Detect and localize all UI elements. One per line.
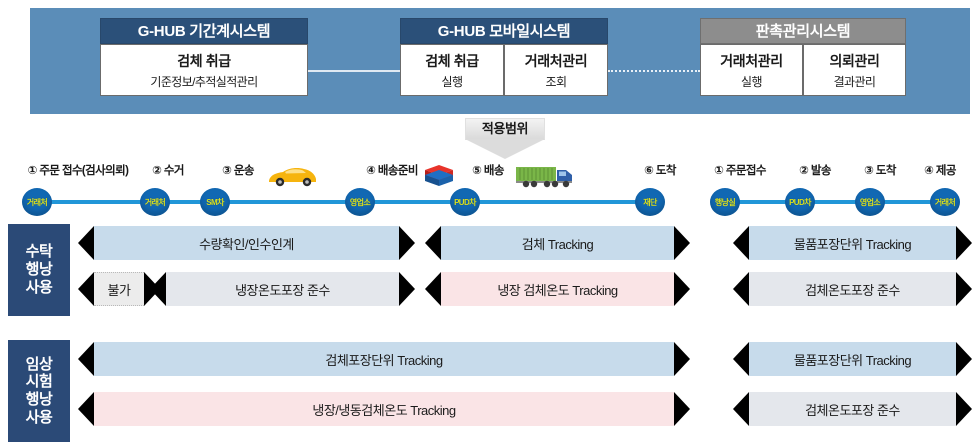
system-cell-line1: 검체 취급: [177, 51, 230, 71]
band-arrow-head-right: [674, 342, 690, 376]
flow-node-label: 행낭실: [715, 197, 735, 208]
process-band: 불가: [78, 272, 160, 306]
connector-dotted-line: [608, 70, 700, 72]
process-band: 검체온도포장 준수: [733, 392, 972, 426]
band-arrow-head-left: [150, 272, 166, 306]
system-cell: 의뢰관리 결과관리: [803, 44, 906, 96]
row-label-line: 사용: [26, 279, 53, 297]
band-arrow-head-left: [733, 392, 749, 426]
flow-node-label: 거래처: [935, 197, 955, 208]
band-arrow-head-right: [956, 272, 972, 306]
band-arrow-head-left: [733, 342, 749, 376]
band-label: 냉장/냉동검체온도 Tracking: [312, 400, 455, 419]
flow-line-segment: [37, 200, 650, 204]
band-label: 검체온도포장 준수: [805, 280, 900, 299]
band-arrow-head-left: [78, 272, 94, 306]
flow-node[interactable]: 영업소: [855, 188, 885, 216]
band-arrow-head-right: [674, 272, 690, 306]
band-arrow-head-left: [78, 342, 94, 376]
system-cell: 검체 취급 실행: [400, 44, 504, 96]
process-band: 검체포장단위 Tracking: [78, 342, 690, 376]
process-band: 물품포장단위 Tracking: [733, 342, 972, 376]
row-label-line: 행낭: [26, 391, 53, 409]
process-band: 냉장 검체온도 Tracking: [425, 272, 690, 306]
band-arrow-head-left: [425, 272, 441, 306]
flow-node[interactable]: SM차: [200, 188, 230, 216]
process-band: 수량확인/인수인계: [78, 226, 415, 260]
band-arrow-head-right: [956, 226, 972, 260]
scope-arrow-label: 적용범위: [440, 118, 570, 140]
band-arrow-head-right: [399, 226, 415, 260]
band-label: 수량확인/인수인계: [199, 234, 294, 253]
band-label: 검체포장단위 Tracking: [325, 350, 442, 369]
scope-arrow-head: [465, 139, 545, 159]
flow-step-label: ③ 운송: [222, 162, 254, 178]
flow-step-label: ③ 도착: [864, 162, 896, 178]
system-cell-line2: 실행: [442, 73, 463, 90]
flow-line-segment: [725, 200, 945, 204]
band-arrow-head-left: [78, 226, 94, 260]
flow-node[interactable]: 거래처: [22, 188, 52, 216]
band-arrow-head-right: [956, 392, 972, 426]
band-label: 냉장온도포장 준수: [235, 280, 330, 299]
system-box-title: G-HUB 기간계시스템: [100, 18, 308, 44]
system-cell-line2: 기준정보/추적실적관리: [150, 73, 257, 90]
flow-node-label: PUD차: [454, 197, 476, 208]
process-band: 냉장/냉동검체온도 Tracking: [78, 392, 690, 426]
row-label-line: 수탁: [26, 243, 53, 261]
car-icon: [266, 164, 318, 188]
process-band: 냉장온도포장 준수: [150, 272, 415, 306]
system-box-title: 판촉관리시스템: [700, 18, 906, 44]
row-label-consignment: 수탁행낭사용: [8, 224, 70, 316]
flow-step-label: ⑤ 배송: [472, 162, 504, 178]
band-arrow-head-right: [399, 272, 415, 306]
band-label: 냉장 검체온도 Tracking: [497, 280, 617, 299]
flow-node-label: 영업소: [350, 197, 370, 208]
connector-solid-line: [308, 70, 400, 72]
flow-node[interactable]: PUD차: [785, 188, 815, 216]
band-arrow-head-left: [733, 226, 749, 260]
flow-node-label: SM차: [206, 197, 224, 208]
process-band: 검체 Tracking: [425, 226, 690, 260]
process-flow: 거래처① 주문 접수(검사의뢰)거래처② 수거SM차③ 운송영업소④ 배송준비P…: [0, 160, 980, 212]
process-band: 검체온도포장 준수: [733, 272, 972, 306]
system-cell-line1: 검체 취급: [425, 51, 478, 71]
system-cell-line1: 거래처관리: [525, 51, 587, 71]
flow-step-label: ⑥ 도착: [644, 162, 676, 178]
process-band: 물품포장단위 Tracking: [733, 226, 972, 260]
system-cell-line2: 조회: [546, 73, 567, 90]
system-cell: 검체 취급 기준정보/추적실적관리: [100, 44, 308, 96]
flow-node[interactable]: PUD차: [450, 188, 480, 216]
system-box-gihub-core: G-HUB 기간계시스템 검체 취급 기준정보/추적실적관리: [100, 18, 308, 96]
system-cell-line1: 의뢰관리: [830, 51, 880, 71]
flow-node-label: PUD차: [789, 197, 811, 208]
truck-icon: [514, 163, 576, 189]
system-banner: G-HUB 기간계시스템 검체 취급 기준정보/추적실적관리 G-HUB 모바일…: [30, 8, 970, 114]
band-label: 물품포장단위 Tracking: [794, 234, 911, 253]
flow-step-label: ② 수거: [152, 162, 184, 178]
row-label-line: 사용: [26, 409, 53, 427]
band-label: 검체 Tracking: [522, 234, 593, 253]
flow-step-label: ① 주문 접수(검사의뢰): [28, 162, 129, 178]
flow-node[interactable]: 거래처: [930, 188, 960, 216]
scope-down-arrow: 적용범위: [440, 118, 570, 160]
system-cell-line2: 결과관리: [834, 73, 876, 90]
flow-node-label: 재단: [643, 197, 657, 208]
flow-step-label: ① 주문접수: [714, 162, 766, 178]
system-box-promotion: 판촉관리시스템 거래처관리 실행 의뢰관리 결과관리: [700, 18, 906, 96]
band-arrow-head-right: [674, 226, 690, 260]
band-label: 불가: [108, 280, 131, 299]
system-box-title: G-HUB 모바일시스템: [400, 18, 608, 44]
band-label: 물품포장단위 Tracking: [794, 350, 911, 369]
band-arrow-head-right: [956, 342, 972, 376]
band-arrow-head-right: [674, 392, 690, 426]
band-arrow-head-left: [425, 226, 441, 260]
flow-node-label: 거래처: [145, 197, 165, 208]
flow-node[interactable]: 영업소: [345, 188, 375, 216]
package-icon: [422, 161, 456, 189]
system-cell-line2: 실행: [741, 73, 762, 90]
system-cell: 거래처관리 조회: [504, 44, 608, 96]
row-label-clinical-trial: 임상시험행낭사용: [8, 340, 70, 442]
flow-node-label: 영업소: [860, 197, 880, 208]
flow-node[interactable]: 거래처: [140, 188, 170, 216]
flow-step-label: ② 발송: [799, 162, 831, 178]
system-box-gihub-mobile: G-HUB 모바일시스템 검체 취급 실행 거래처관리 조회: [400, 18, 608, 96]
flow-node[interactable]: 재단: [635, 188, 665, 216]
flow-step-label: ④ 제공: [924, 162, 956, 178]
band-label: 검체온도포장 준수: [805, 400, 900, 419]
band-arrow-head-left: [733, 272, 749, 306]
flow-step-label: ④ 배송준비: [366, 162, 418, 178]
system-cell-line1: 거래처관리: [720, 51, 782, 71]
row-label-line: 행낭: [26, 261, 53, 279]
flow-node-label: 거래처: [27, 197, 47, 208]
row-label-line: 임상: [26, 356, 53, 374]
band-arrow-head-left: [78, 392, 94, 426]
row-label-line: 시험: [26, 373, 53, 391]
system-cell: 거래처관리 실행: [700, 44, 803, 96]
flow-node[interactable]: 행낭실: [710, 188, 740, 216]
